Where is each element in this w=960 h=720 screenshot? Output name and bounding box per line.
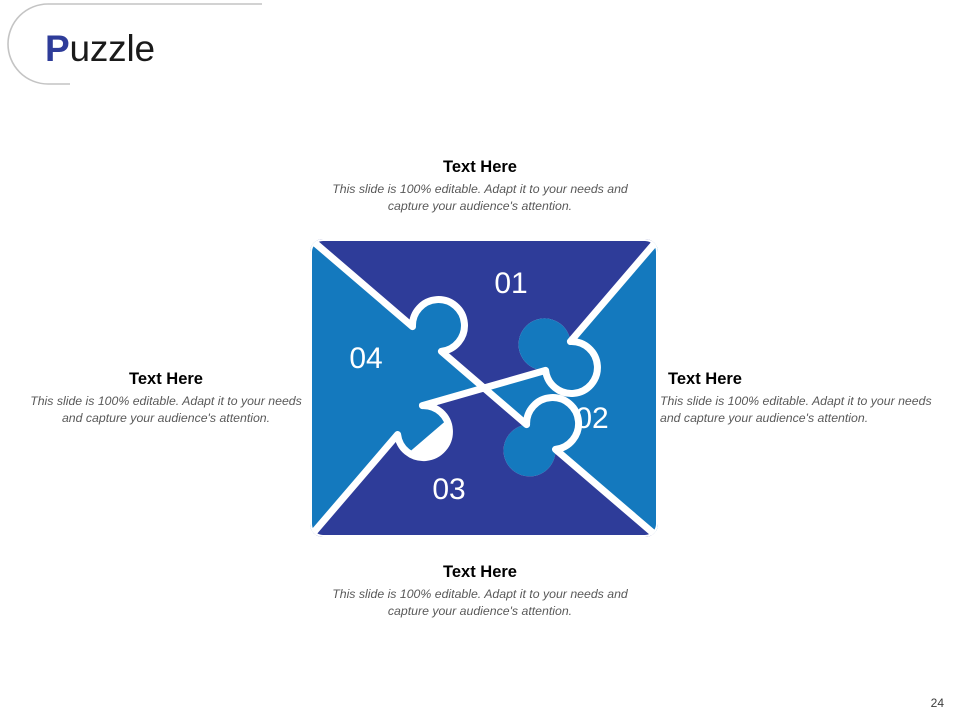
page-title-initial: P — [45, 28, 69, 69]
text-block-bottom: Text Here This slide is 100% editable. A… — [320, 563, 640, 621]
puzzle-piece-01-label: 01 — [494, 267, 527, 300]
text-block-right-body: This slide is 100% editable. Adapt it to… — [660, 393, 945, 428]
text-block-left-body: This slide is 100% editable. Adapt it to… — [20, 393, 312, 428]
slide-header: Puzzle — [0, 0, 960, 110]
puzzle-piece-03-label: 03 — [432, 473, 465, 506]
text-block-right: Text Here This slide is 100% editable. A… — [660, 370, 945, 428]
puzzle-svg: 01 02 03 04 — [308, 237, 660, 539]
text-block-top-body: This slide is 100% editable. Adapt it to… — [320, 181, 640, 216]
text-block-left: Text Here This slide is 100% editable. A… — [20, 370, 312, 428]
page-number: 24 — [931, 696, 944, 710]
text-block-top: Text Here This slide is 100% editable. A… — [320, 158, 640, 216]
puzzle-piece-02-label: 02 — [575, 402, 608, 435]
page-title: Puzzle — [45, 28, 155, 70]
page-title-rest: uzzle — [69, 28, 154, 69]
text-block-bottom-body: This slide is 100% editable. Adapt it to… — [320, 586, 640, 621]
puzzle-diagram: 01 02 03 04 — [308, 237, 660, 539]
text-block-bottom-heading: Text Here — [320, 563, 640, 582]
puzzle-piece-04-label: 04 — [349, 342, 382, 375]
text-block-right-heading: Text Here — [660, 370, 945, 389]
text-block-top-heading: Text Here — [320, 158, 640, 177]
text-block-left-heading: Text Here — [20, 370, 312, 389]
